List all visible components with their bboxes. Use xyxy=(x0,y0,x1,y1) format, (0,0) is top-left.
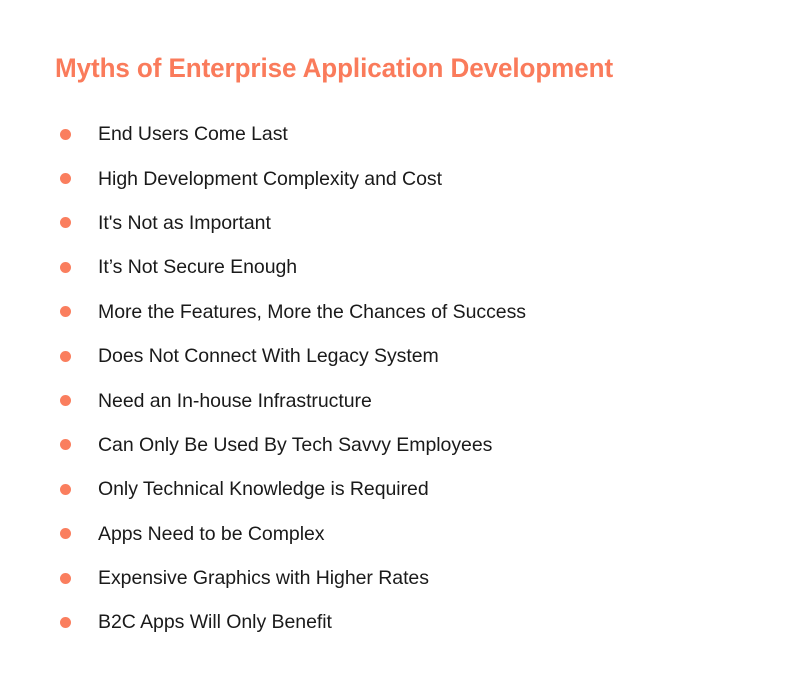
list-item-label: Apps Need to be Complex xyxy=(98,522,324,546)
list-item-label: High Development Complexity and Cost xyxy=(98,167,442,191)
bullet-dot-icon xyxy=(60,439,71,450)
list-item-label: It's Not as Important xyxy=(98,211,271,235)
list-item: It's Not as Important xyxy=(55,201,755,245)
list-item: Can Only Be Used By Tech Savvy Employees xyxy=(55,423,755,467)
list-item-label: B2C Apps Will Only Benefit xyxy=(98,610,332,634)
list-item: Need an In-house Infrastructure xyxy=(55,378,755,422)
list-item-label: It’s Not Secure Enough xyxy=(98,255,297,279)
infographic-slide: Myths of Enterprise Application Developm… xyxy=(0,0,800,682)
bullet-dot-icon xyxy=(60,395,71,406)
list-item-label: Can Only Be Used By Tech Savvy Employees xyxy=(98,433,492,457)
list-item: End Users Come Last xyxy=(55,112,755,156)
list-item: Does Not Connect With Legacy System xyxy=(55,334,755,378)
bullet-dot-icon xyxy=(60,617,71,628)
list-item: Only Technical Knowledge is Required xyxy=(55,467,755,511)
list-item-label: Expensive Graphics with Higher Rates xyxy=(98,566,429,590)
bullet-dot-icon xyxy=(60,262,71,273)
bullet-dot-icon xyxy=(60,217,71,228)
bullet-dot-icon xyxy=(60,351,71,362)
list-item: Expensive Graphics with Higher Rates xyxy=(55,556,755,600)
list-item: More the Features, More the Chances of S… xyxy=(55,290,755,334)
bullet-dot-icon xyxy=(60,484,71,495)
list-item-label: Need an In-house Infrastructure xyxy=(98,389,372,413)
bullet-dot-icon xyxy=(60,306,71,317)
bullet-dot-icon xyxy=(60,173,71,184)
list-item-label: Does Not Connect With Legacy System xyxy=(98,344,439,368)
bullet-dot-icon xyxy=(60,528,71,539)
list-item-label: End Users Come Last xyxy=(98,122,288,146)
list-item-label: More the Features, More the Chances of S… xyxy=(98,300,526,324)
bullet-dot-icon xyxy=(60,129,71,140)
page-title: Myths of Enterprise Application Developm… xyxy=(55,52,613,84)
list-item: High Development Complexity and Cost xyxy=(55,156,755,200)
list-item: B2C Apps Will Only Benefit xyxy=(55,600,755,644)
bullet-dot-icon xyxy=(60,573,71,584)
list-item: Apps Need to be Complex xyxy=(55,512,755,556)
list-item-label: Only Technical Knowledge is Required xyxy=(98,477,429,501)
myth-list: End Users Come Last High Development Com… xyxy=(55,112,755,645)
list-item: It’s Not Secure Enough xyxy=(55,245,755,289)
